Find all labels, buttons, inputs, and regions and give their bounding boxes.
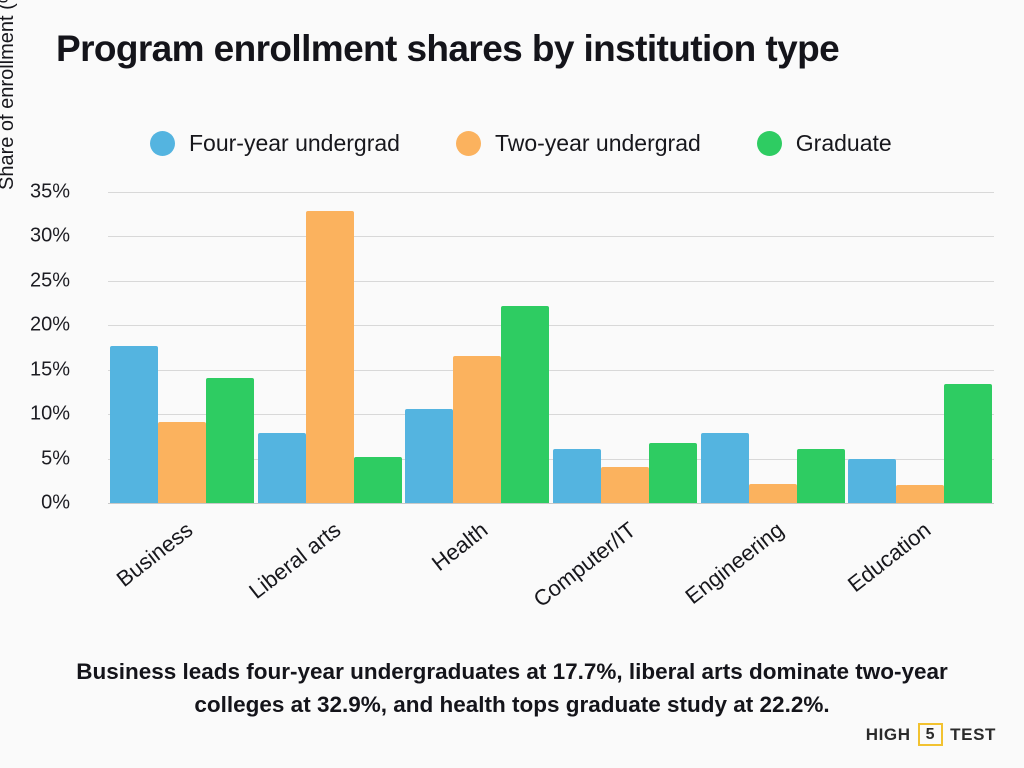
legend-label: Graduate [796,130,892,157]
y-tick-label: 35% [0,181,70,204]
bar[interactable] [649,443,697,503]
bar[interactable] [453,356,501,504]
chart-title: Program enrollment shares by institution… [56,28,996,70]
legend-label: Four-year undergrad [189,130,400,157]
x-tick-slot: Business [108,503,256,633]
bar-group-0 [108,192,256,503]
x-tick-slot: Computer/IT [551,503,699,633]
bar-group-4 [699,192,847,503]
bar[interactable] [258,433,306,503]
legend-swatch-icon [150,131,175,156]
y-tick-label: 15% [0,358,70,381]
legend-swatch-icon [757,131,782,156]
plot-area: 0%5%10%15%20%25%30%35% [108,192,994,503]
bar[interactable] [306,211,354,503]
logo-text-left: HIGH [866,725,911,745]
legend-item-0[interactable]: Four-year undergrad [150,130,400,157]
bar-group-5 [846,192,994,503]
bar[interactable] [553,449,601,503]
chart-caption: Business leads four-year undergraduates … [52,655,972,721]
y-tick-label: 0% [0,492,70,515]
bar-group-2 [403,192,551,503]
x-tick-slot: Education [846,503,994,633]
bar[interactable] [501,306,549,503]
x-tick-slot: Liberal arts [256,503,404,633]
x-axis-ticks: BusinessLiberal artsHealthComputer/ITEng… [108,503,994,633]
legend-item-1[interactable]: Two-year undergrad [456,130,701,157]
bar[interactable] [944,384,992,503]
y-tick-label: 10% [0,403,70,426]
chart-legend: Four-year undergradTwo-year undergradGra… [150,126,892,160]
bar[interactable] [797,449,845,503]
y-tick-label: 25% [0,269,70,292]
logo-text-right: TEST [950,725,996,745]
bar-groups [108,192,994,503]
y-tick-label: 5% [0,447,70,470]
x-tick-slot: Engineering [699,503,847,633]
bar[interactable] [354,457,402,503]
x-tick-label: Business [111,517,197,592]
bar[interactable] [601,467,649,503]
bar[interactable] [206,378,254,503]
logo-badge: 5 [918,723,944,746]
legend-swatch-icon [456,131,481,156]
y-tick-label: 20% [0,314,70,337]
x-tick-label: Health [427,517,493,577]
x-tick-slot: Health [403,503,551,633]
bar[interactable] [158,422,206,503]
bar[interactable] [405,409,453,503]
bar[interactable] [848,459,896,503]
bar[interactable] [749,484,797,503]
x-tick-label: Education [843,517,936,598]
bar[interactable] [110,346,158,503]
bar[interactable] [896,485,944,503]
bar-group-1 [256,192,404,503]
legend-item-2[interactable]: Graduate [757,130,892,157]
y-tick-label: 30% [0,225,70,248]
legend-label: Two-year undergrad [495,130,701,157]
x-tick-label: Liberal arts [244,517,346,604]
brand-logo: HIGH 5 TEST [866,723,996,746]
bar[interactable] [701,433,749,503]
y-axis-label: Share of enrollment (%) [0,0,19,190]
chart-figure: Program enrollment shares by institution… [0,0,1024,768]
bar-group-3 [551,192,699,503]
